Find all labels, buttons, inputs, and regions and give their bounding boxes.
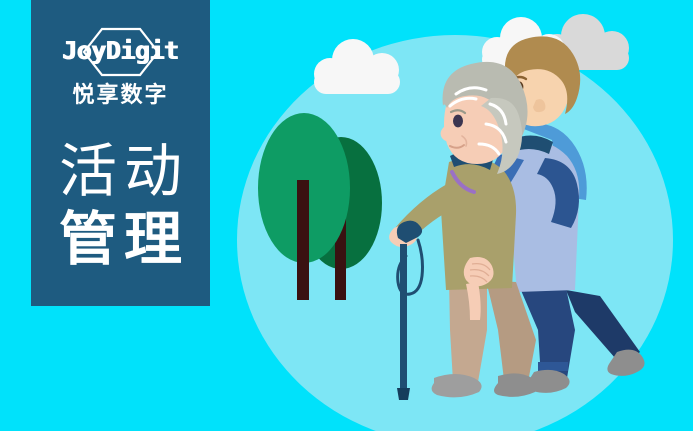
title-panel: JoyDigit 悦享数字 活动 管理 bbox=[31, 0, 210, 306]
headline-line-2: 管理 bbox=[31, 208, 210, 272]
cane-tip bbox=[397, 388, 410, 400]
elderly-woman-eye bbox=[453, 115, 463, 128]
brand-logo: JoyDigit 悦享数字 bbox=[31, 26, 210, 126]
logo-subtitle: 悦享数字 bbox=[31, 82, 210, 108]
poster-canvas: JoyDigit 悦享数字 活动 管理 bbox=[0, 0, 693, 431]
logo-mark: JoyDigit bbox=[31, 26, 210, 78]
young-man-cuff bbox=[538, 362, 568, 371]
logo-wordmark: JoyDigit bbox=[31, 37, 210, 65]
headline-line-1: 活动 bbox=[31, 140, 210, 204]
